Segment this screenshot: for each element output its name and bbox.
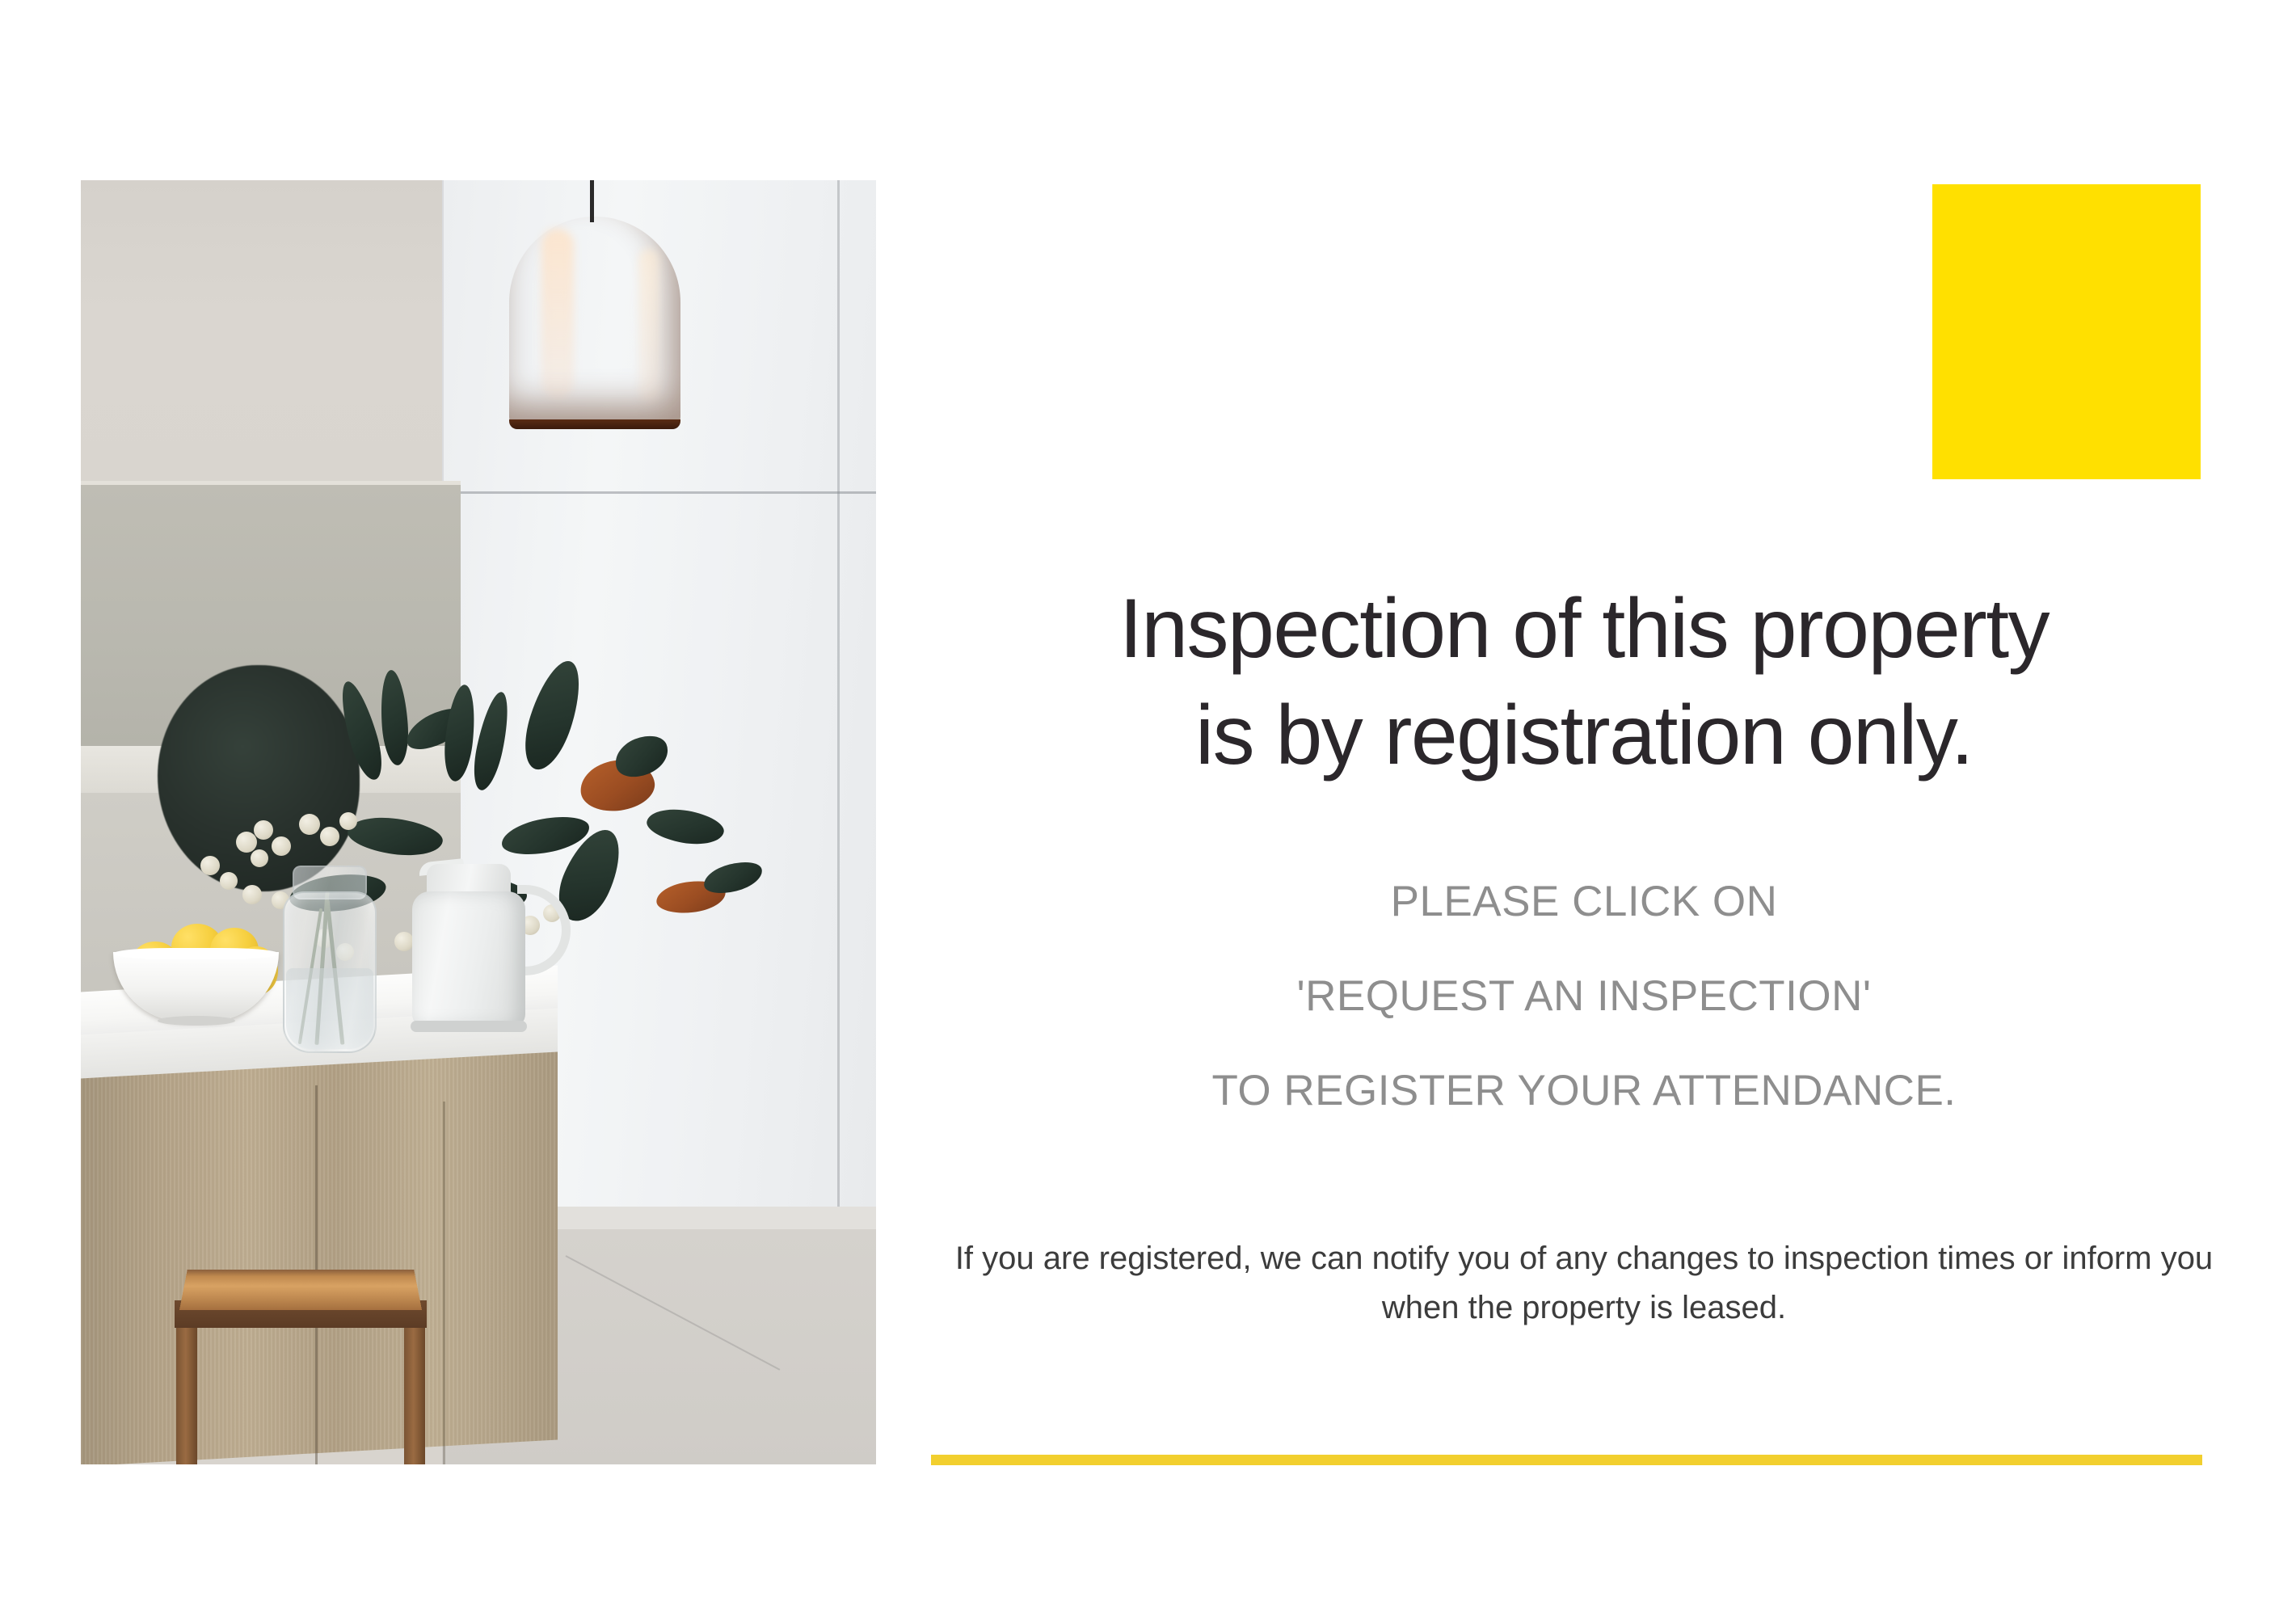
stool-leg bbox=[176, 1326, 197, 1464]
page-title-line-1: Inspection of this property bbox=[954, 575, 2214, 682]
body-note: If you are registered, we can notify you… bbox=[937, 1234, 2231, 1333]
berry-cluster bbox=[251, 849, 268, 867]
kitchen-island-wood-grain bbox=[81, 1051, 558, 1464]
stool-leg bbox=[404, 1326, 425, 1464]
photo-cabinet-seam-horizontal bbox=[442, 491, 876, 494]
photo-cabinet-seam-vertical bbox=[837, 180, 840, 1231]
kitchen-photo bbox=[81, 180, 876, 1464]
kitchen-island-cabinet-joint bbox=[443, 1102, 445, 1464]
pendant-lamp-highlight-secondary bbox=[638, 249, 659, 402]
berry-cluster bbox=[272, 836, 291, 856]
yellow-divider bbox=[931, 1455, 2202, 1465]
instructions-block: PLEASE CLICK ON 'REQUEST AN INSPECTION' … bbox=[954, 877, 2214, 1115]
berry-cluster bbox=[320, 827, 339, 846]
instruction-line-1: PLEASE CLICK ON bbox=[954, 877, 2214, 926]
berry-cluster bbox=[200, 856, 220, 875]
instruction-line-3: TO REGISTER YOUR ATTENDANCE. bbox=[954, 1066, 2214, 1115]
berry-cluster bbox=[299, 814, 320, 835]
berry-cluster bbox=[242, 885, 262, 904]
raywhite-logo[interactable]: RayWhite ® bbox=[1932, 184, 2201, 479]
fruit-bowl-foot bbox=[158, 1016, 235, 1026]
ceramic-jug bbox=[412, 891, 525, 1027]
berry-cluster bbox=[339, 812, 357, 830]
berry-cluster bbox=[394, 932, 414, 951]
pendant-lamp-highlight bbox=[541, 229, 574, 398]
poster-page: RayWhite ® Inspection of this property i… bbox=[0, 0, 2296, 1622]
berry-cluster bbox=[254, 820, 273, 840]
page-title: Inspection of this property is by regist… bbox=[954, 575, 2214, 789]
pendant-lamp-rim bbox=[509, 419, 680, 429]
glass-vase-water bbox=[286, 968, 373, 1049]
berry-cluster bbox=[220, 872, 238, 890]
ceramic-jug-base bbox=[411, 1021, 527, 1032]
fruit-bowl-rim bbox=[113, 948, 279, 959]
timber-stool-seat bbox=[179, 1270, 422, 1310]
berry-cluster bbox=[236, 832, 257, 853]
instruction-line-2: 'REQUEST AN INSPECTION' bbox=[954, 971, 2214, 1021]
page-title-line-2: is by registration only. bbox=[954, 682, 2214, 789]
